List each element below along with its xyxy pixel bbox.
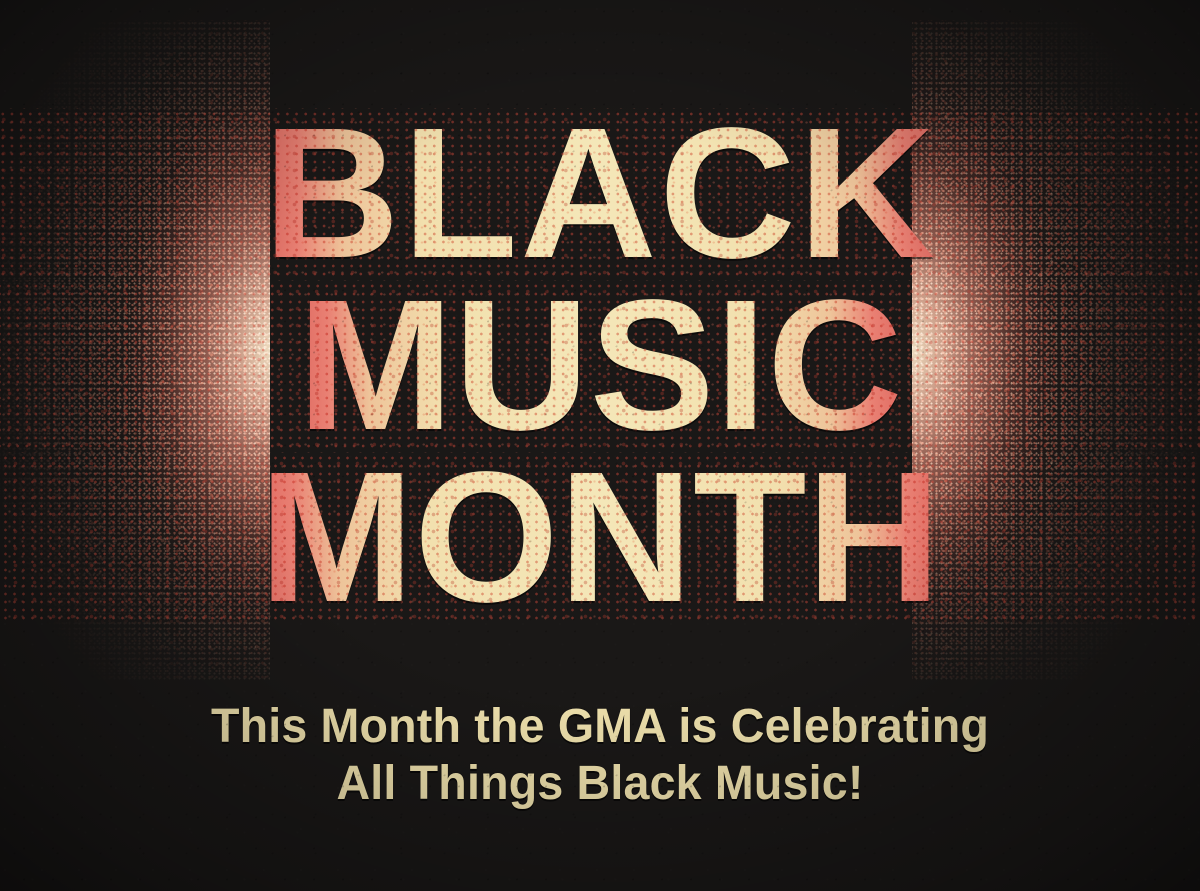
headline-line-music: MUSIC: [0, 280, 1200, 452]
headline-line-black-text: BLACK: [263, 108, 937, 280]
subtitle-line-2: All Things Black Music!: [18, 755, 1182, 812]
headline-line-month: MONTH: [0, 452, 1200, 624]
subtitle-line-1: This Month the GMA is Celebrating: [18, 698, 1182, 755]
poster-headline: BLACK MUSIC MONTH: [0, 108, 1200, 624]
black-music-month-poster: BLACK MUSIC MONTH This Month the GMA is …: [0, 0, 1200, 891]
poster-subtitle: This Month the GMA is Celebrating All Th…: [0, 698, 1200, 812]
headline-line-month-text: MONTH: [259, 452, 941, 624]
headline-line-music-text: MUSIC: [297, 280, 902, 452]
headline-line-black: BLACK: [0, 108, 1200, 280]
